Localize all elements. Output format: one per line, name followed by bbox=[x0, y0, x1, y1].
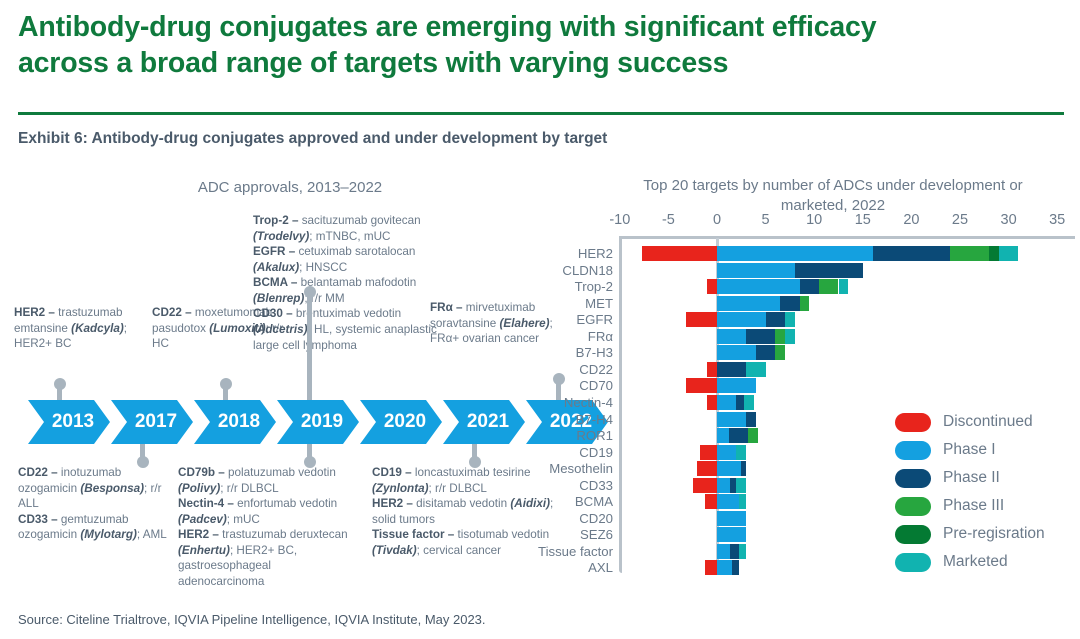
legend-label: Marketed bbox=[943, 553, 1008, 571]
bar-segment-phase-ii bbox=[729, 428, 748, 443]
timeline-pin-knob bbox=[304, 456, 316, 468]
y-category-label: Trop-2 bbox=[575, 279, 613, 295]
bar-segment-phase-ii bbox=[746, 412, 756, 427]
timeline-pin-knob bbox=[220, 378, 232, 390]
y-category-label: CLDN18 bbox=[562, 263, 613, 279]
x-tick-0: 0 bbox=[713, 212, 721, 228]
bar-row: EGFR bbox=[555, 312, 1075, 328]
timeline-pin-2019 bbox=[307, 444, 312, 462]
timeline-note-above-2020: Trop-2 – sacituzumab govitecan (Trodelvy… bbox=[253, 213, 453, 353]
legend-label: Phase III bbox=[943, 497, 1004, 515]
bar-segment-phase-ii bbox=[746, 329, 775, 344]
bar-segment-phase-ii bbox=[730, 478, 737, 493]
timeline-year-label: 2021 bbox=[467, 411, 509, 433]
timeline-pin-2021 bbox=[472, 444, 477, 462]
y-category-label: ROR1 bbox=[576, 428, 613, 444]
chart-legend: DiscontinuedPhase IPhase IIPhase IIIPre-… bbox=[895, 408, 1075, 576]
y-category-label: BCMA bbox=[575, 494, 613, 510]
bar-segment-phase-ii bbox=[730, 544, 740, 559]
bar-segment-phase-i bbox=[717, 527, 746, 542]
bar-segment-marketed bbox=[744, 395, 754, 410]
bar-segment-phase-i bbox=[717, 461, 741, 476]
y-category-label: AXL bbox=[588, 560, 613, 576]
x-tick--5: -5 bbox=[662, 212, 675, 228]
bar-segment-phase-ii bbox=[873, 246, 951, 261]
timeline-note-above-2022: FRα – mirvetuximab soravtansine (Elahere… bbox=[430, 300, 555, 347]
bar-row: MET bbox=[555, 296, 1075, 312]
bar-segment-phase-i bbox=[717, 395, 736, 410]
timeline-note-below-2021: CD19 – loncastuximab tesirine (Zynlonta)… bbox=[372, 465, 562, 558]
timeline-year-label: 2017 bbox=[135, 411, 177, 433]
bar-row: B7-H3 bbox=[555, 345, 1075, 361]
y-category-label: Mesothelin bbox=[549, 461, 613, 477]
bar-segment-phase-i bbox=[717, 279, 800, 294]
bar-segment-marketed bbox=[785, 329, 795, 344]
bar-segment-discontinued bbox=[707, 362, 717, 377]
timeline-pin-2018 bbox=[223, 384, 228, 400]
bar-segment-phase-iii bbox=[819, 279, 838, 294]
bar-segment-discontinued bbox=[707, 395, 717, 410]
bar-segment-phase-iii bbox=[800, 296, 810, 311]
legend-swatch-icon bbox=[895, 553, 931, 572]
legend-item[interactable]: Pre-regisration bbox=[895, 520, 1075, 548]
timeline-pin-knob bbox=[137, 456, 149, 468]
bar-segment-discontinued bbox=[705, 560, 717, 575]
exhibit-subtitle: Exhibit 6: Antibody-drug conjugates appr… bbox=[18, 130, 918, 148]
bar-row: HER2 bbox=[555, 246, 1075, 262]
bar-segment-marketed bbox=[736, 478, 746, 493]
bar-segment-discontinued bbox=[700, 445, 717, 460]
bar-segment-phase-ii bbox=[756, 345, 775, 360]
bar-row: CD22 bbox=[555, 362, 1075, 378]
timeline-note-below-2019: CD79b – polatuzumab vedotin (Polivy); r/… bbox=[178, 465, 358, 590]
bar-segment-phase-i bbox=[717, 329, 746, 344]
bar-segment-marketed bbox=[785, 312, 795, 327]
bar-segment-phase-i bbox=[717, 246, 873, 261]
chart-panel-title: Top 20 targets by number of ADCs under d… bbox=[618, 176, 1048, 215]
y-category-label: MET bbox=[585, 296, 613, 312]
x-tick-30: 30 bbox=[1001, 212, 1017, 228]
bar-segment-phase-i bbox=[717, 312, 766, 327]
y-category-label: CD70 bbox=[579, 378, 613, 394]
bar-segment-phase-i bbox=[717, 412, 746, 427]
bar-segment-phase-ii bbox=[741, 461, 746, 476]
y-category-label: EGFR bbox=[576, 312, 613, 328]
timeline-year-label: 2018 bbox=[218, 411, 260, 433]
legend-swatch-icon bbox=[895, 469, 931, 488]
source-note: Source: Citeline Trialtrove, IQVIA Pipel… bbox=[18, 612, 486, 627]
legend-label: Phase I bbox=[943, 441, 996, 459]
y-category-label: CD19 bbox=[579, 445, 613, 461]
legend-label: Phase II bbox=[943, 469, 1000, 487]
legend-item[interactable]: Marketed bbox=[895, 548, 1075, 576]
timeline-year-label: 2013 bbox=[52, 411, 94, 433]
x-axis-tick-labels: -10-505101520253035 bbox=[555, 212, 1075, 234]
timeline-pin-2017 bbox=[140, 444, 145, 462]
legend-item[interactable]: Phase II bbox=[895, 464, 1075, 492]
timeline-year-2017[interactable]: 2017 bbox=[111, 400, 193, 444]
timeline-year-label: 2019 bbox=[301, 411, 343, 433]
x-tick--10: -10 bbox=[609, 212, 630, 228]
timeline-year-label: 2020 bbox=[384, 411, 426, 433]
y-category-label: CD22 bbox=[579, 362, 613, 378]
timeline-pin-2020 bbox=[307, 292, 312, 400]
bar-segment-phase-iii bbox=[775, 345, 785, 360]
timeline-year-2020[interactable]: 2020 bbox=[360, 400, 442, 444]
legend-label: Discontinued bbox=[943, 413, 1033, 431]
bar-segment-marketed bbox=[736, 445, 746, 460]
bar-segment-phase-ii bbox=[766, 312, 785, 327]
exhibit-page: Antibody-drug conjugates are emerging wi… bbox=[0, 0, 1080, 639]
bar-segment-phase-iii bbox=[748, 428, 758, 443]
legend-swatch-icon bbox=[895, 413, 931, 432]
timeline-year-2019[interactable]: 2019 bbox=[277, 400, 359, 444]
timeline-note-below-2017: CD22 – inotuzumab ozogamicin (Besponsa);… bbox=[18, 465, 178, 543]
bar-segment-phase-i bbox=[717, 445, 736, 460]
page-title: Antibody-drug conjugates are emerging wi… bbox=[18, 10, 1062, 82]
bar-segment-phase-iii bbox=[775, 329, 785, 344]
bar-segment-phase-i bbox=[717, 378, 756, 393]
timeline-pin-knob bbox=[469, 456, 481, 468]
y-category-label: Nectin-4 bbox=[564, 395, 613, 411]
legend-item[interactable]: Discontinued bbox=[895, 408, 1075, 436]
bar-segment-phase-iii bbox=[950, 246, 989, 261]
header-divider bbox=[18, 112, 1064, 115]
bar-row: FRα bbox=[555, 329, 1075, 345]
legend-item[interactable]: Phase I bbox=[895, 436, 1075, 464]
bar-segment-phase-i bbox=[717, 428, 729, 443]
bar-segment-marketed bbox=[839, 279, 849, 294]
timeline-pin-2013 bbox=[57, 384, 62, 400]
y-category-label: CD20 bbox=[579, 511, 613, 527]
timeline-panel-title: ADC approvals, 2013–2022 bbox=[60, 178, 520, 198]
y-category-label: Tissue factor bbox=[538, 544, 613, 560]
timeline-pin-knob bbox=[304, 286, 316, 298]
bar-segment-discontinued bbox=[705, 494, 717, 509]
adc-approval-timeline: 2013201720182019202020212022HER2 – trast… bbox=[0, 200, 575, 590]
y-category-label: B7-H3 bbox=[576, 345, 613, 361]
bar-segment-phase-i bbox=[717, 478, 730, 493]
x-tick-35: 35 bbox=[1049, 212, 1065, 228]
bar-segment-pre-regisration bbox=[989, 246, 999, 261]
x-tick-20: 20 bbox=[903, 212, 919, 228]
bar-segment-phase-i bbox=[717, 263, 795, 278]
x-axis-line bbox=[619, 236, 1075, 239]
bar-row: CLDN18 bbox=[555, 263, 1075, 279]
bar-segment-marketed bbox=[739, 494, 746, 509]
x-tick-15: 15 bbox=[855, 212, 871, 228]
bar-segment-phase-i bbox=[717, 560, 732, 575]
legend-item[interactable]: Phase III bbox=[895, 492, 1075, 520]
y-category-label: SEZ6 bbox=[580, 527, 613, 543]
bar-segment-marketed bbox=[739, 544, 746, 559]
bar-segment-discontinued bbox=[642, 246, 717, 261]
bar-segment-phase-ii bbox=[736, 395, 744, 410]
bar-segment-discontinued bbox=[707, 279, 717, 294]
timeline-note-above-2013: HER2 – trastuzumab emtansine (Kadcyla); … bbox=[14, 305, 144, 352]
y-category-label: CD33 bbox=[579, 478, 613, 494]
bar-segment-discontinued bbox=[686, 378, 717, 393]
bar-segment-phase-i bbox=[717, 345, 756, 360]
timeline-year-2018[interactable]: 2018 bbox=[194, 400, 276, 444]
bar-segment-phase-ii bbox=[780, 296, 799, 311]
bar-segment-phase-i bbox=[717, 494, 739, 509]
bar-segment-discontinued bbox=[697, 461, 717, 476]
timeline-pin-knob bbox=[54, 378, 66, 390]
bar-segment-marketed bbox=[999, 246, 1018, 261]
x-tick-25: 25 bbox=[952, 212, 968, 228]
headline-line-1: Antibody-drug conjugates are emerging wi… bbox=[18, 11, 876, 43]
timeline-year-2013[interactable]: 2013 bbox=[28, 400, 110, 444]
y-category-label: HER2 bbox=[578, 246, 613, 262]
bar-segment-marketed bbox=[746, 362, 765, 377]
legend-label: Pre-regisration bbox=[943, 525, 1045, 543]
bar-segment-discontinued bbox=[686, 312, 717, 327]
y-category-label: B7-H4 bbox=[576, 412, 613, 428]
y-category-label: FRα bbox=[588, 329, 613, 345]
timeline-year-2021[interactable]: 2021 bbox=[443, 400, 525, 444]
legend-swatch-icon bbox=[895, 441, 931, 460]
bar-row: Trop-2 bbox=[555, 279, 1075, 295]
bar-segment-phase-ii bbox=[717, 362, 746, 377]
headline-line-2: across a broad range of targets with var… bbox=[18, 46, 1062, 82]
bar-segment-phase-i bbox=[717, 296, 780, 311]
bar-segment-phase-ii bbox=[795, 263, 863, 278]
bar-segment-discontinued bbox=[693, 478, 717, 493]
bar-segment-phase-ii bbox=[800, 279, 819, 294]
bar-segment-phase-i bbox=[717, 544, 730, 559]
bar-segment-phase-ii bbox=[732, 560, 740, 575]
bar-row: CD70 bbox=[555, 378, 1075, 394]
bar-segment-phase-i bbox=[717, 511, 746, 526]
legend-swatch-icon bbox=[895, 525, 931, 544]
x-tick-10: 10 bbox=[806, 212, 822, 228]
legend-swatch-icon bbox=[895, 497, 931, 516]
x-tick-5: 5 bbox=[762, 212, 770, 228]
